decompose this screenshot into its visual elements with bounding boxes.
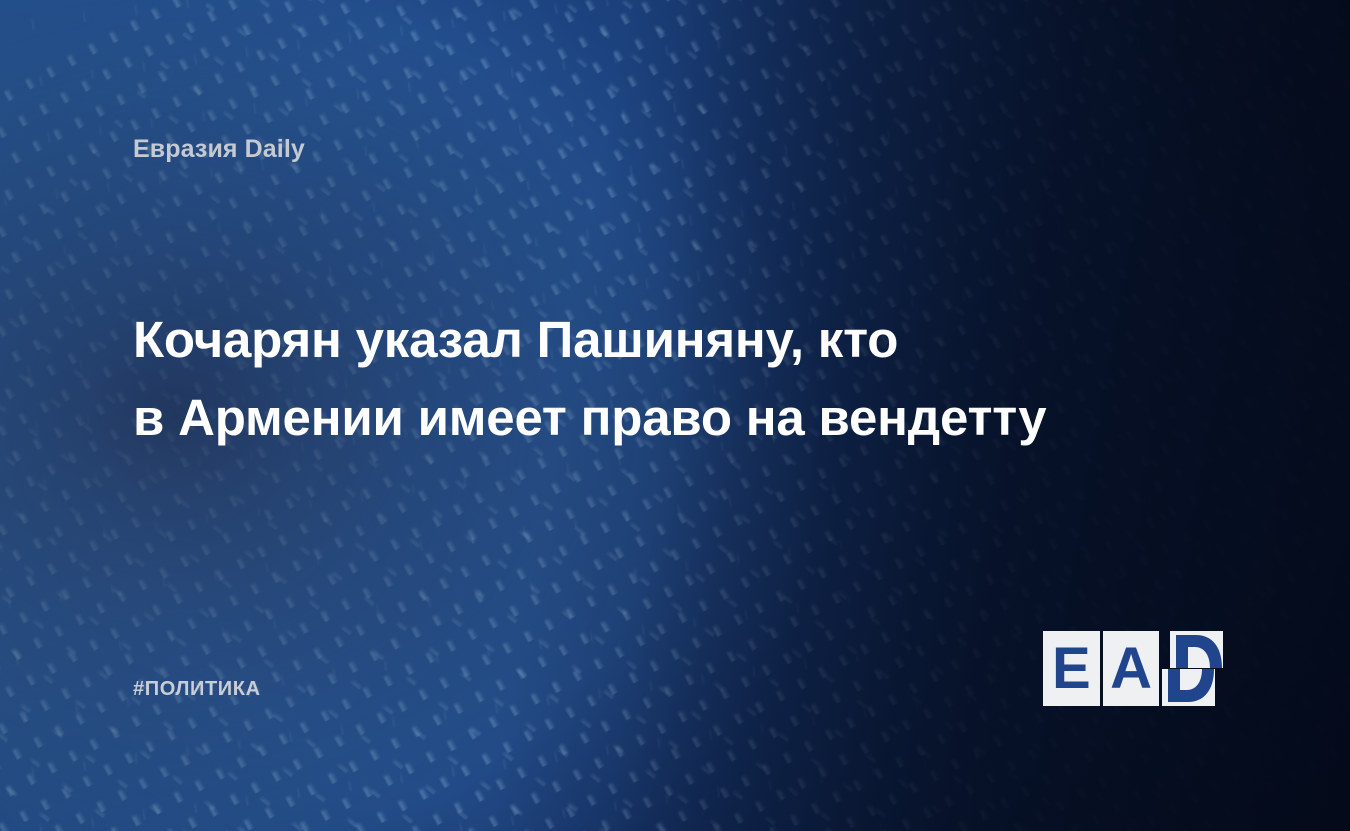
category-tag[interactable]: #ПОЛИТИКА [133,678,261,701]
logo-letter-e: E [1052,640,1091,698]
logo-tile-d-split [1162,631,1223,706]
news-social-card: Евразия Daily Кочарян указал Пашиняну, к… [0,0,1350,831]
logo-letter-a: A [1110,640,1152,698]
page-title: Кочарян указал Пашиняну, кто в Армении и… [133,301,1143,457]
headline-line-2: в Армении имеет право на вендетту [133,379,1143,457]
headline-line-1: Кочарян указал Пашиняну, кто [133,301,1143,379]
brand-name: Евразия Daily [133,136,305,164]
logo-tile-e: E [1043,631,1100,706]
eadaily-logo[interactable]: E A [1043,631,1223,706]
logo-letter-d-lower-half [1162,669,1215,706]
logo-tile-a: A [1103,631,1160,706]
logo-letter-d-upper-half [1170,631,1223,668]
